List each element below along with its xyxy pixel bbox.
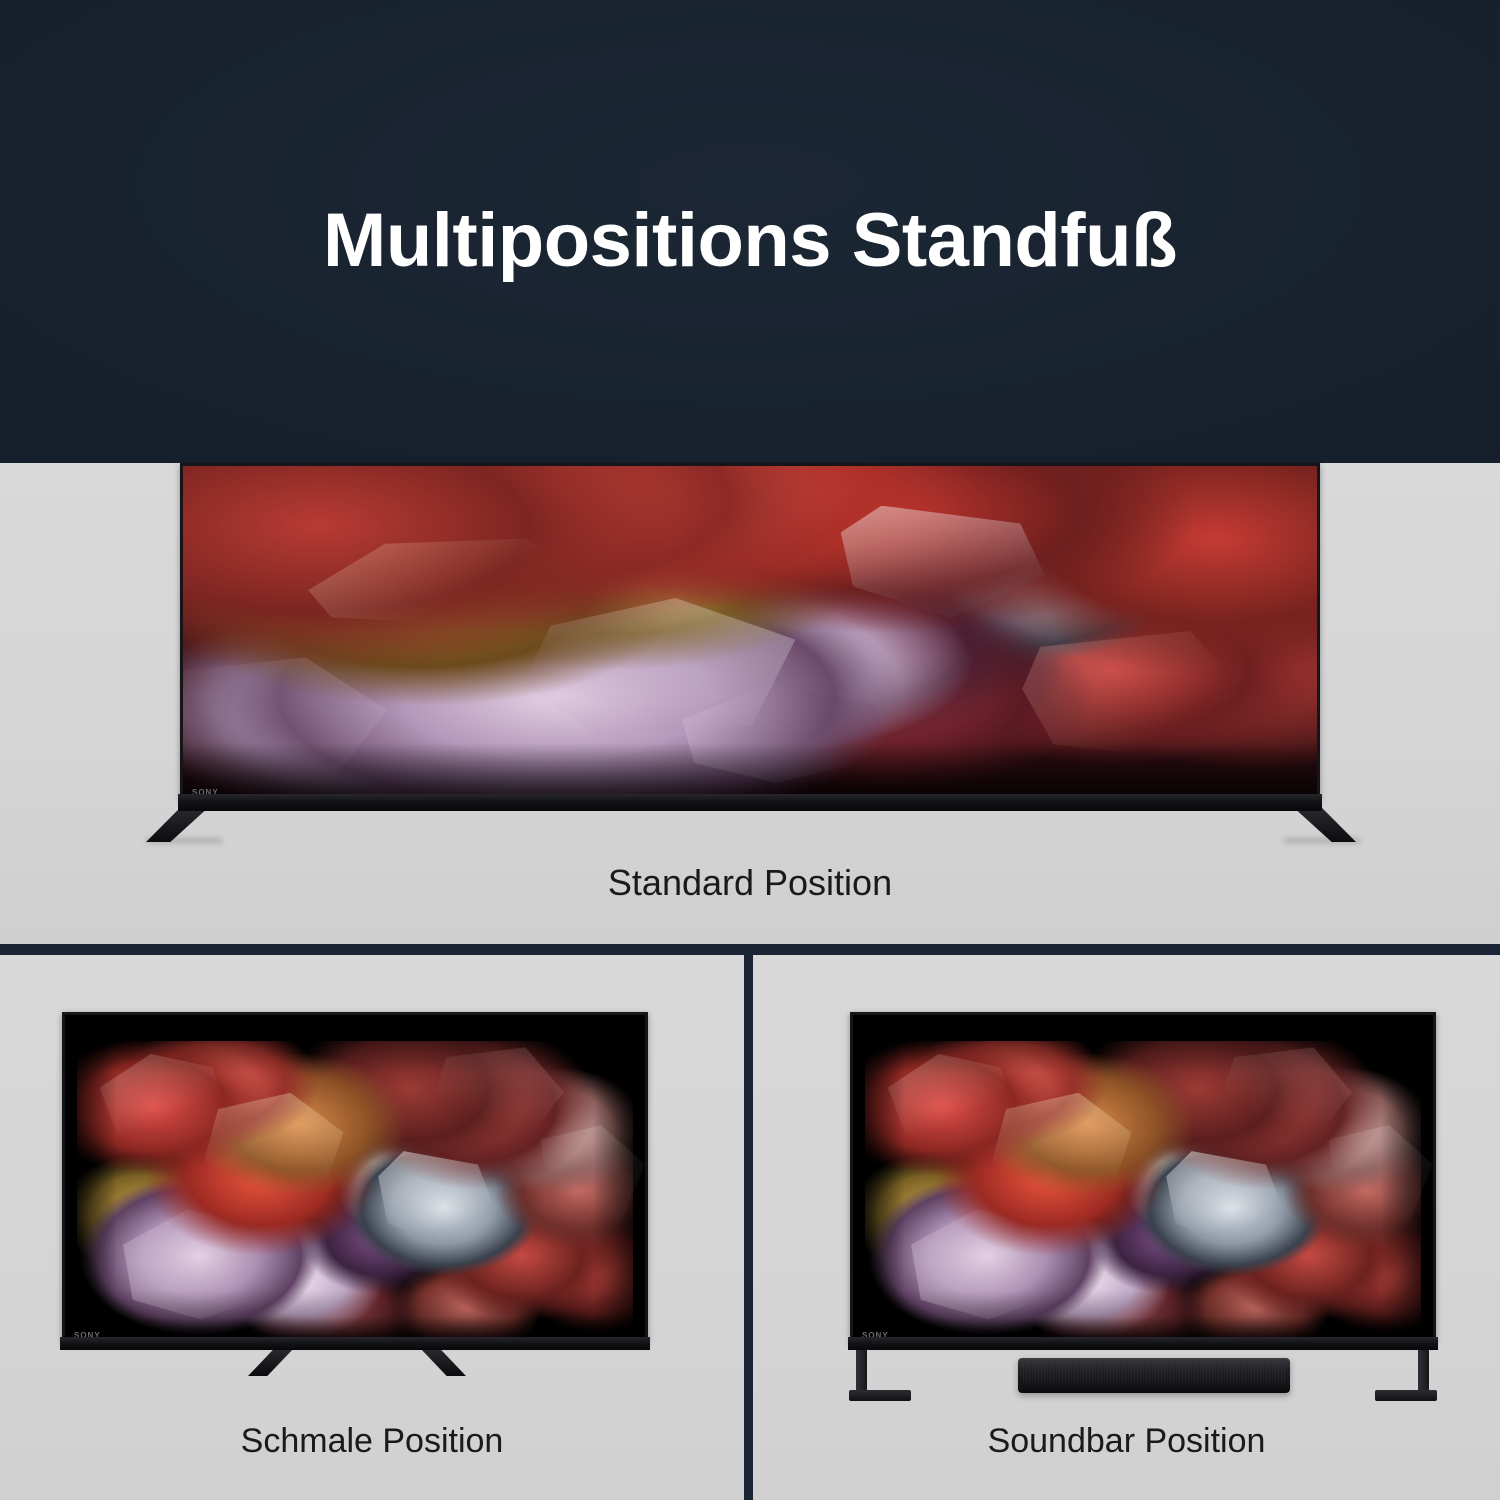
tv-screen bbox=[183, 466, 1317, 796]
divider-vertical bbox=[744, 955, 753, 1500]
caption-narrow-position: Schmale Position bbox=[0, 1422, 744, 1461]
tv-screen bbox=[853, 1015, 1433, 1339]
stand-base-left bbox=[849, 1390, 911, 1401]
tv-bottom-bezel bbox=[60, 1337, 650, 1350]
soundbar bbox=[1018, 1358, 1290, 1393]
stand-riser-right bbox=[1418, 1348, 1429, 1396]
tv-screen bbox=[65, 1015, 645, 1339]
tv-soundbar-position: SONY bbox=[850, 1012, 1436, 1342]
tv-standard-position: SONY bbox=[180, 463, 1320, 799]
tv-bottom-bezel bbox=[848, 1337, 1438, 1350]
screen-image-crystals bbox=[183, 466, 1317, 796]
stand-riser-left bbox=[856, 1348, 867, 1396]
stand-base-right bbox=[1375, 1390, 1437, 1401]
divider-horizontal bbox=[0, 944, 1500, 955]
caption-standard-position: Standard Position bbox=[0, 862, 1500, 904]
tv-bottom-bezel bbox=[178, 794, 1322, 811]
tv-narrow-position: SONY bbox=[62, 1012, 648, 1342]
screen-image-crystals bbox=[853, 1015, 1433, 1339]
screen-image-crystals bbox=[65, 1015, 645, 1339]
page-title: Multipositions Standfuß bbox=[323, 203, 1177, 279]
product-feature-poster: Multipositions Standfuß SONY Standard Po… bbox=[0, 0, 1500, 1500]
header-banner: Multipositions Standfuß bbox=[0, 0, 1500, 463]
caption-soundbar-position: Soundbar Position bbox=[753, 1422, 1500, 1461]
